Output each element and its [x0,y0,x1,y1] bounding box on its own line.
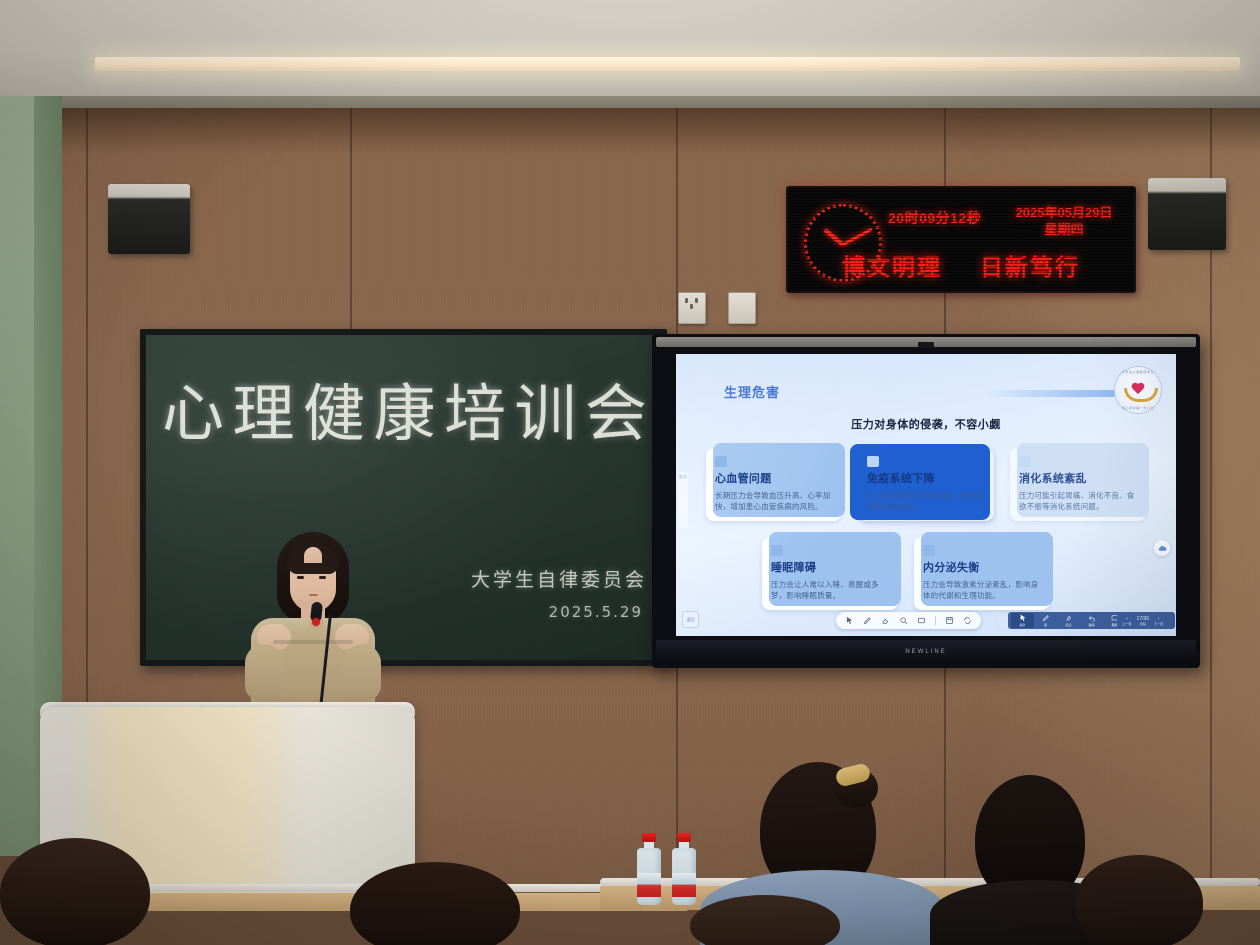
blackboard-title: 心 理 健 康 培 训 会 [162,383,647,445]
panel-brand-label: NEWLINE [905,649,946,655]
blackboard: 心 理 健 康 培 训 会 大学生自律委员会 2025.5.29 [140,329,667,666]
moon-icon [771,545,783,556]
presentation-screen[interactable]: 生理危害 大学生心理健康中心 用心呵护每一份心灵 压力对身体的侵袭，不容小觑 心… [676,354,1176,636]
presenter-sleeve [245,644,283,700]
blackboard-title-char: 心 [162,383,224,445]
outlet-socket-icon [685,298,699,310]
card-heading: 免疫系统下降 [867,470,985,486]
flask-icon [923,545,935,556]
blackboard-title-char: 训 [514,383,576,445]
audience-head [1075,855,1203,945]
toolbar-drag-handle[interactable] [994,612,1001,629]
share-tool-icon[interactable] [963,616,972,625]
led-date-text: 2025年05月29日 [998,204,1130,221]
toolbar-divider [935,616,936,625]
presenter-eye [319,576,326,579]
organization-logo: 大学生心理健康中心 用心呵护每一份心灵 [1114,366,1162,414]
card-body: 压力可能引起胃痛、消化不良、食欲不振等消化系统问题。 [1019,490,1137,512]
audience-head [0,838,150,945]
next-slide-label: 下一页 [1154,622,1163,626]
bottle-label [637,873,661,897]
pointer-button-label: 指针 [1019,623,1025,627]
heart-pulse-icon [715,456,727,467]
eraser-tool-icon[interactable] [881,616,890,625]
water-bottle [672,833,696,905]
logo-top-text: 大学生心理健康中心 [1115,370,1161,374]
stomach-icon [1019,456,1031,467]
clock-minute-hand [842,228,873,246]
card-cardiovascular[interactable]: 心血管问题 长期压力会导致血压升高、心率加快，增加患心血管疾病的风险。 [706,448,842,521]
heart-icon [1131,383,1145,396]
shape-tool-icon[interactable] [917,616,926,625]
card-digestive[interactable]: 消化系统紊乱 压力可能引起胃痛、消化不良、食欲不振等消化系统问题。 [1010,448,1146,521]
presenter-mouth [309,594,318,596]
slide-side-tab[interactable]: 批注 [678,472,688,528]
wall-top-shadow [62,108,1260,154]
ceiling-light-strip [95,57,1240,71]
page-indicator: 17/36 页码 [1136,616,1149,626]
blank-wall-plate [728,292,756,324]
prev-slide-label: 上一页 [1122,622,1131,626]
presenter-fringe [287,544,339,574]
card-row-1: 心血管问题 长期压力会导致血压升高、心率加快，增加患心血管疾病的风险。 免疫系统… [706,448,1146,521]
card-body: 压力会削弱免疫系统功能，使身体更易感染疾病。 [867,490,985,512]
lecture-hall-photo: 20时09分12秒 2025年05月29日 星期四 博文明理 日新笃行 心 理 … [0,0,1260,945]
blackboard-title-char: 理 [232,383,294,445]
presenter-eye [297,576,304,579]
next-slide-button[interactable]: ›下一页 [1154,616,1163,626]
pen-tool-icon[interactable] [863,616,872,625]
undo-button-label: 撤销 [1088,623,1094,627]
blackboard-title-char: 健 [303,383,365,445]
led-scrolling-banner: 20时09分12秒 2025年05月29日 星期四 博文明理 日新笃行 [786,186,1136,293]
presenter-neckline [273,640,353,644]
water-bottle [637,833,661,905]
blackboard-date: 2025.5.29 [549,603,643,621]
bottle-label [672,873,696,897]
blackboard-subtitle: 大学生自律委员会 [471,565,647,592]
card-body: 压力会导致激素分泌紊乱，影响身体的代谢和生理功能。 [923,579,1041,601]
slide-back-button[interactable]: 返回 [682,611,699,628]
interactive-flat-panel[interactable]: 生理危害 大学生心理健康中心 用心呵护每一份心灵 压力对身体的侵袭，不容小觑 心… [652,334,1200,668]
pointer-button[interactable]: 指针 [1011,613,1034,628]
blackboard-title-char: 康 [373,383,435,445]
card-heading: 心血管问题 [715,470,833,486]
undo-button[interactable]: 撤销 [1080,613,1103,628]
panel-top-bezel [656,337,1196,347]
bottle-cap [642,833,656,842]
led-date-block: 2025年05月29日 星期四 [998,204,1130,238]
save-tool-icon[interactable] [945,616,954,625]
microphone-indicator-light [312,618,320,626]
logo-bottom-text: 用心呵护每一份心灵 [1115,406,1161,410]
led-motto-right: 日新笃行 [980,248,1080,282]
highlight-button-label: 标记 [1065,623,1071,627]
card-endocrine[interactable]: 内分泌失衡 压力会导致激素分泌紊乱，影响身体的代谢和生理功能。 [914,537,1050,610]
led-weekday-text: 星期四 [998,221,1130,238]
card-sleep[interactable]: 睡眠障碍 压力会让人难以入睡、易醒或多梦，影响睡眠质量。 [762,537,898,610]
blackboard-title-char: 培 [444,383,506,445]
shield-icon [867,456,879,467]
wall-speaker-right [1148,178,1226,250]
annotation-toolbar[interactable] [836,612,981,629]
power-outlet-plate[interactable] [678,292,706,324]
slide-header-decoration [986,390,1116,397]
slide-pager[interactable]: ‹上一页 17/36 页码 ›下一页 [1117,612,1168,629]
cursor-tool-icon[interactable] [845,616,854,625]
card-row-2: 睡眠障碍 压力会让人难以入睡、易醒或多梦，影响睡眠质量。 内分泌失衡 压力会导致… [706,537,1146,610]
card-heading: 消化系统紊乱 [1019,470,1137,486]
ceiling [0,0,1260,96]
card-body: 压力会让人难以入睡、易醒或多梦，影响睡眠质量。 [771,579,889,601]
card-heading: 内分泌失衡 [923,559,1041,575]
pen-button-label: 笔 [1044,623,1047,627]
led-motto-left: 博文明理 [842,248,942,282]
panel-bottom-bezel: NEWLINE [656,640,1196,664]
card-heading: 睡眠障碍 [771,559,889,575]
wall-speaker-left [108,184,190,254]
card-immune[interactable]: 免疫系统下降 压力会削弱免疫系统功能，使身体更易感染疾病。 [858,448,994,521]
slide-title: 生理危害 [724,382,780,401]
clock-hour-hand [823,228,844,246]
prev-slide-button[interactable]: ‹上一页 [1122,616,1131,626]
zoom-tool-icon[interactable] [899,616,908,625]
led-time-text: 20时09分12秒 [888,208,981,228]
camera-icon [918,342,934,348]
slide-card-grid: 心血管问题 长期压力会导致血压升高、心率加快，增加患心血管疾病的风险。 免疫系统… [706,448,1146,610]
highlight-button[interactable]: 标记 [1057,613,1080,628]
pen-button[interactable]: 笔 [1034,613,1057,628]
bottle-cap [677,833,691,842]
cloud-sync-icon[interactable] [1154,540,1170,556]
card-body: 长期压力会导致血压升高、心率加快，增加患心血管疾病的风险。 [715,490,833,512]
page-indicator-label: 页码 [1140,622,1146,626]
blackboard-title-char: 会 [585,383,647,445]
presenter-sleeve [343,644,381,700]
led-motto: 博文明理 日新笃行 [788,248,1134,282]
slide-subtitle: 压力对身体的侵袭，不容小觑 [676,416,1176,432]
